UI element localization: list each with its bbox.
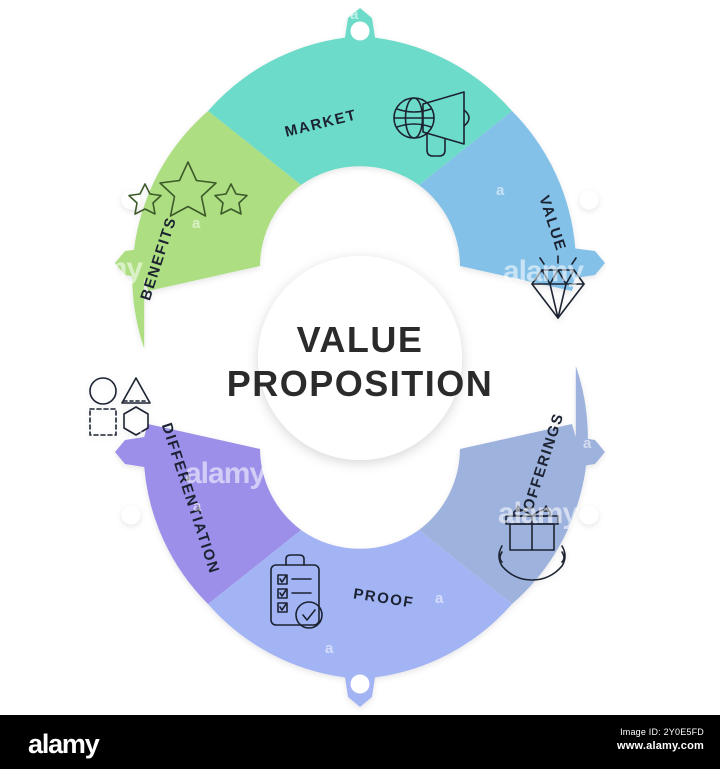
- geometric-shapes-icon: [90, 378, 150, 435]
- infographic-canvas: MARKET: [0, 0, 720, 715]
- connector-hole-lower-right: [580, 506, 599, 525]
- center-title-line2: PROPOSITION: [227, 363, 494, 404]
- image-id-text: Image ID: 2Y0E5FD: [617, 727, 704, 737]
- connector-hole-bottom: [351, 675, 370, 694]
- connector-hole-upper-right: [580, 191, 599, 210]
- alamy-url-text[interactable]: www.alamy.com: [617, 740, 704, 752]
- footer-meta: Image ID: 2Y0E5FD www.alamy.com: [617, 727, 704, 752]
- alamy-logo: alamy: [28, 729, 99, 760]
- connector-hole-top: [351, 22, 370, 41]
- connector-hole-upper-left: [122, 191, 141, 210]
- connector-hole-lower-left: [122, 506, 141, 525]
- value-proposition-wheel: MARKET: [0, 0, 720, 715]
- alamy-footer-bar: alamy Image ID: 2Y0E5FD www.alamy.com: [0, 715, 720, 769]
- center-title-line1: VALUE: [297, 319, 424, 360]
